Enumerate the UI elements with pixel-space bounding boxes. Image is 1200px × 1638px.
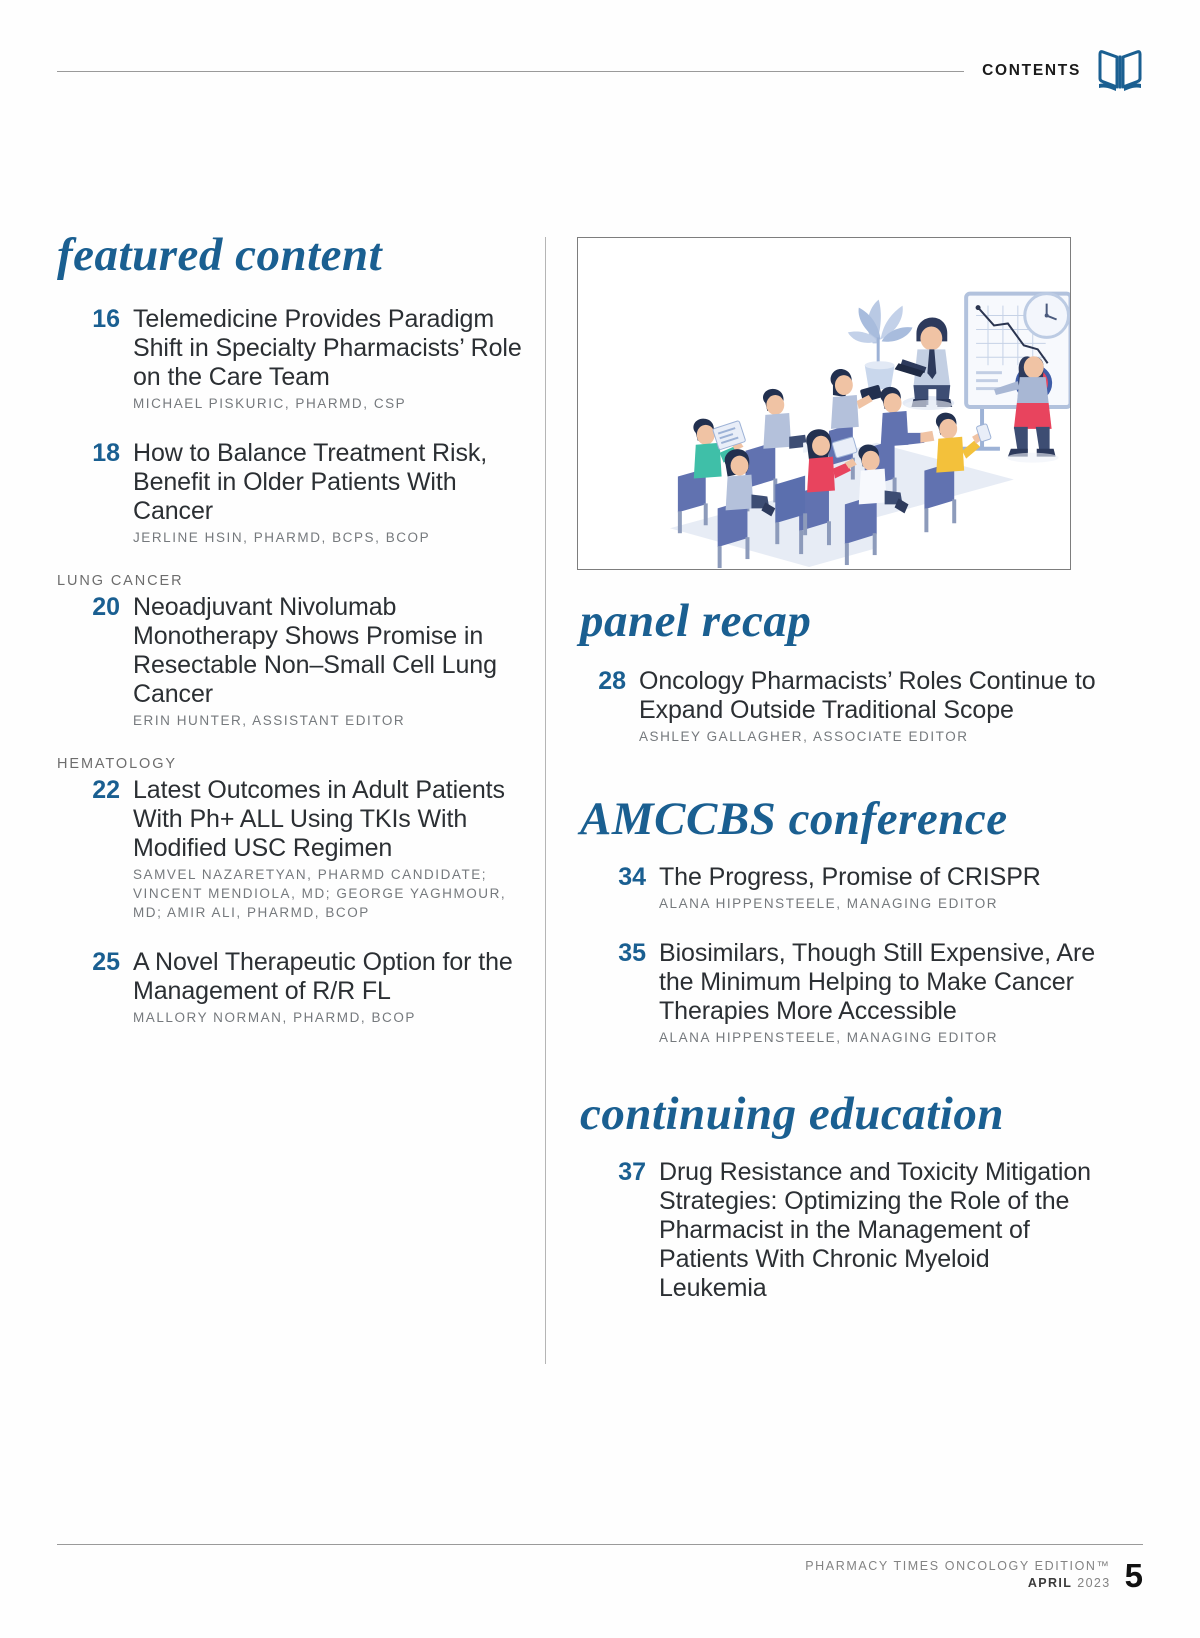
toc-entry-page-number: 28	[577, 667, 639, 746]
category-label-hematology: HEMATOLOGY	[57, 756, 523, 772]
toc-entry-byline: ASHLEY GALLAGHER, ASSOCIATE EDITOR	[639, 727, 1097, 746]
right-column: panel recap 28 Oncology Pharmacists’ Rol…	[577, 237, 1097, 1329]
section-title-amccbs-conference: AMCCBS conference	[580, 796, 1097, 843]
column-divider	[545, 237, 546, 1364]
toc-entry-body: The Progress, Promise of CRISPR ALANA HI…	[659, 863, 1097, 913]
header-contents-label: CONTENTS	[982, 62, 1081, 80]
conference-presentation-illustration	[577, 237, 1071, 570]
toc-entry[interactable]: 16 Telemedicine Provides Paradigm Shift …	[57, 305, 523, 413]
toc-entry-body: Latest Outcomes in Adult Patients With P…	[133, 776, 523, 922]
toc-entry-page-number: 22	[57, 776, 133, 922]
toc-entry-body: Neoadjuvant Nivolumab Monotherapy Shows …	[133, 593, 523, 730]
page-header: CONTENTS	[57, 48, 1143, 94]
toc-entry[interactable]: 28 Oncology Pharmacists’ Roles Continue …	[577, 667, 1097, 746]
magazine-contents-page: CONTENTS featured content 16 Telemedicin…	[0, 0, 1200, 1638]
toc-entry-byline: MICHAEL PISKURIC, PHARMD, CSP	[133, 394, 523, 413]
toc-entry-title: Drug Resistance and Toxicity Mitigation …	[659, 1158, 1097, 1303]
toc-entry[interactable]: 35 Biosimilars, Though Still Expensive, …	[577, 939, 1097, 1047]
toc-entry-body: A Novel Therapeutic Option for the Manag…	[133, 948, 523, 1027]
toc-entry-body: Drug Resistance and Toxicity Mitigation …	[659, 1158, 1097, 1303]
footer-issue-year: 2023	[1077, 1576, 1110, 1590]
toc-entry-byline: ALANA HIPPENSTEELE, MANAGING EDITOR	[659, 894, 1097, 913]
toc-entry-title: Oncology Pharmacists’ Roles Continue to …	[639, 667, 1097, 725]
section-title-panel-recap: panel recap	[580, 598, 1097, 645]
toc-entry[interactable]: 25 A Novel Therapeutic Option for the Ma…	[57, 948, 523, 1027]
footer-divider-rule	[57, 1544, 1143, 1545]
toc-entry[interactable]: 18 How to Balance Treatment Risk, Benefi…	[57, 439, 523, 547]
toc-entry-title: A Novel Therapeutic Option for the Manag…	[133, 948, 523, 1006]
plant	[848, 300, 913, 389]
toc-entry-page-number: 34	[577, 863, 659, 913]
toc-entry-title: Telemedicine Provides Paradigm Shift in …	[133, 305, 523, 392]
toc-entry-body: Biosimilars, Though Still Expensive, Are…	[659, 939, 1097, 1047]
toc-entry-byline: ERIN HUNTER, ASSISTANT EDITOR	[133, 711, 523, 730]
toc-entry-title: How to Balance Treatment Risk, Benefit i…	[133, 439, 523, 526]
toc-entry-body: How to Balance Treatment Risk, Benefit i…	[133, 439, 523, 547]
wall-clock	[1025, 294, 1069, 338]
toc-entry-title: Latest Outcomes in Adult Patients With P…	[133, 776, 523, 863]
toc-entry-byline: SAMVEL NAZARETYAN, PHARMD CANDIDATE; VIN…	[133, 865, 523, 922]
footer-issue-month: APRIL	[1028, 1576, 1073, 1590]
section-title-featured-content: featured content	[57, 232, 523, 279]
toc-entry-byline: ALANA HIPPENSTEELE, MANAGING EDITOR	[659, 1028, 1097, 1047]
page-footer: PHARMACY TIMES ONCOLOGY EDITION™ APRIL 2…	[57, 1544, 1143, 1590]
toc-entry-byline: JERLINE HSIN, PHARMD, BCPS, BCOP	[133, 528, 523, 547]
toc-entry-title: Neoadjuvant Nivolumab Monotherapy Shows …	[133, 593, 523, 709]
toc-entry[interactable]: 34 The Progress, Promise of CRISPR ALANA…	[577, 863, 1097, 913]
toc-entry-page-number: 20	[57, 593, 133, 730]
toc-entry[interactable]: 37 Drug Resistance and Toxicity Mitigati…	[577, 1158, 1097, 1303]
toc-entry-body: Telemedicine Provides Paradigm Shift in …	[133, 305, 523, 413]
section-title-continuing-education: continuing education	[580, 1091, 1097, 1138]
footer-page-number: 5	[1125, 1562, 1143, 1590]
header-divider-rule	[57, 71, 964, 72]
left-column: featured content 16 Telemedicine Provide…	[57, 232, 523, 1053]
toc-entry-page-number: 35	[577, 939, 659, 1047]
category-label-lung-cancer: LUNG CANCER	[57, 573, 523, 589]
toc-entry-title: Biosimilars, Though Still Expensive, Are…	[659, 939, 1097, 1026]
toc-entry-page-number: 25	[57, 948, 133, 1027]
toc-entry-page-number: 18	[57, 439, 133, 547]
toc-entry-page-number: 37	[577, 1158, 659, 1303]
toc-entry-body: Oncology Pharmacists’ Roles Continue to …	[639, 667, 1097, 746]
toc-entry[interactable]: 22 Latest Outcomes in Adult Patients Wit…	[57, 776, 523, 922]
footer-issue-date: APRIL 2023	[805, 1576, 1110, 1590]
footer-publication-name: PHARMACY TIMES ONCOLOGY EDITION™	[805, 1559, 1110, 1573]
open-book-icon	[1097, 50, 1143, 92]
toc-entry[interactable]: 20 Neoadjuvant Nivolumab Monotherapy Sho…	[57, 593, 523, 730]
toc-entry-byline: MALLORY NORMAN, PHARMD, BCOP	[133, 1008, 523, 1027]
toc-entry-page-number: 16	[57, 305, 133, 413]
toc-entry-title: The Progress, Promise of CRISPR	[659, 863, 1097, 892]
